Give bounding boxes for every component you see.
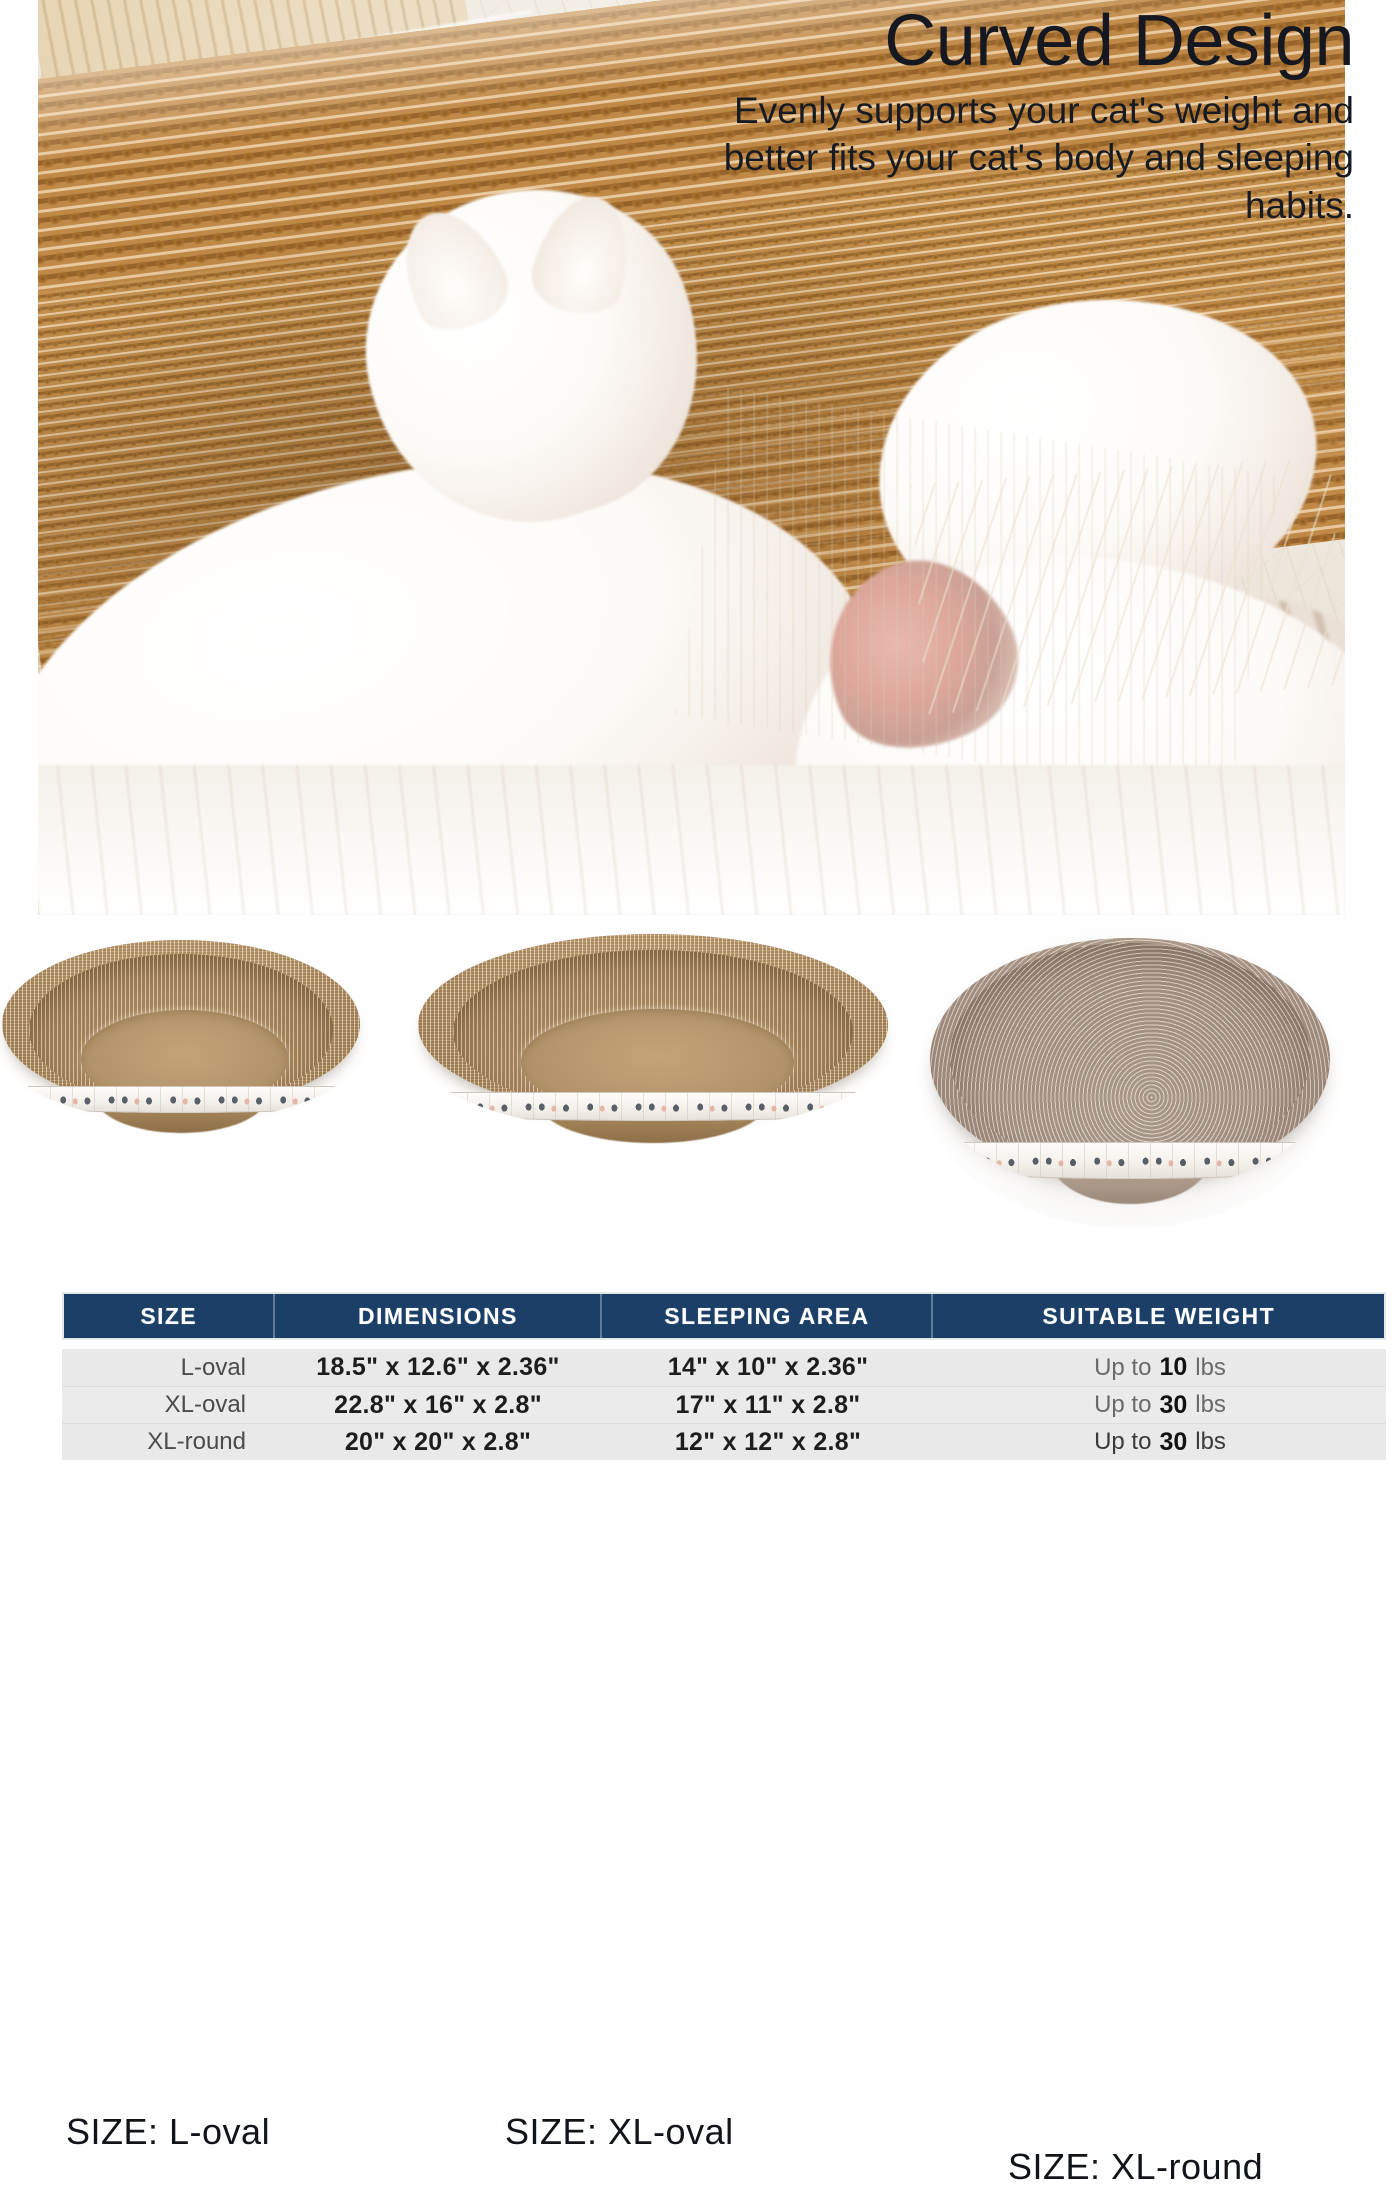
oval-scratcher-bed: [418, 934, 888, 1156]
hero-subtitle: Evenly supports your cat's weight and be…: [654, 87, 1354, 229]
cell-suitable-weight: Up to 30 lbs: [934, 1387, 1386, 1423]
page-title: Curved Design: [654, 4, 1354, 79]
weight-unit: lbs: [1195, 1428, 1226, 1456]
marble-floor: [38, 765, 1345, 915]
table-header-row: SIZE DIMENSIONS SLEEPING AREA SUITABLE W…: [62, 1292, 1386, 1340]
cell-size: L-oval: [62, 1349, 274, 1386]
specification-table: SIZE DIMENSIONS SLEEPING AREA SUITABLE W…: [62, 1292, 1386, 1460]
size-label-l-oval: SIZE: L-oval: [66, 2111, 270, 2153]
cat-pattern-ribbon-icon: [6, 1086, 357, 1113]
round-scratcher-bed: [930, 926, 1330, 1216]
cell-sleeping-area: 14" x 10" x 2.36": [602, 1349, 934, 1386]
bed-decorative-band: [930, 1077, 1330, 1193]
bed-decorative-band: [423, 1056, 884, 1131]
cell-dimensions: 18.5" x 12.6" x 2.36": [274, 1349, 602, 1386]
weight-prefix: Up to: [1094, 1428, 1151, 1456]
table-header-suitable-weight: SUITABLE WEIGHT: [931, 1294, 1384, 1338]
product-image-l-oval: [2, 940, 360, 1145]
cell-size: XL-round: [62, 1424, 274, 1460]
cell-size: XL-oval: [62, 1387, 274, 1423]
cell-suitable-weight: Up to 10 lbs: [934, 1349, 1386, 1386]
product-image-xl-round: [930, 926, 1330, 1216]
weight-value: 30: [1159, 1391, 1187, 1420]
weight-unit: lbs: [1195, 1391, 1226, 1419]
weight-prefix: Up to: [1094, 1391, 1151, 1419]
weight-value: 30: [1159, 1428, 1187, 1457]
cat-whiskers: [910, 456, 1345, 715]
table-body: L-oval 18.5" x 12.6" x 2.36" 14" x 10" x…: [62, 1349, 1386, 1460]
size-label-xl-oval: SIZE: XL-oval: [505, 2111, 734, 2153]
size-label-xl-round: SIZE: XL-round: [1008, 2146, 1263, 2188]
hero-text-block: Curved Design Evenly supports your cat's…: [654, 4, 1354, 229]
cell-sleeping-area: 12" x 12" x 2.8": [602, 1424, 934, 1460]
weight-unit: lbs: [1195, 1354, 1226, 1382]
cat-pattern-ribbon-icon: [423, 1092, 884, 1121]
cat-pattern-ribbon-icon: [930, 1142, 1330, 1179]
table-row: XL-oval 22.8" x 16" x 2.8" 17" x 11" x 2…: [62, 1386, 1386, 1423]
table-header-size: SIZE: [64, 1294, 273, 1338]
table-header-sleeping-area: SLEEPING AREA: [600, 1294, 931, 1338]
table-header-dimensions: DIMENSIONS: [273, 1294, 600, 1338]
cell-suitable-weight: Up to 30 lbs: [934, 1424, 1386, 1460]
weight-value: 10: [1159, 1353, 1187, 1382]
oval-scratcher-bed: [2, 940, 360, 1145]
product-image-xl-oval: [418, 934, 888, 1156]
product-showcase-row: SIZE: L-oval SIZE: XL-oval: [0, 918, 1400, 1288]
cell-dimensions: 20" x 20" x 2.8": [274, 1424, 602, 1460]
weight-prefix: Up to: [1094, 1354, 1151, 1382]
cell-dimensions: 22.8" x 16" x 2.8": [274, 1387, 602, 1423]
table-row: L-oval 18.5" x 12.6" x 2.36" 14" x 10" x…: [62, 1349, 1386, 1386]
bed-decorative-band: [6, 1053, 357, 1123]
table-row: XL-round 20" x 20" x 2.8" 12" x 12" x 2.…: [62, 1423, 1386, 1460]
cell-sleeping-area: 17" x 11" x 2.8": [602, 1387, 934, 1423]
